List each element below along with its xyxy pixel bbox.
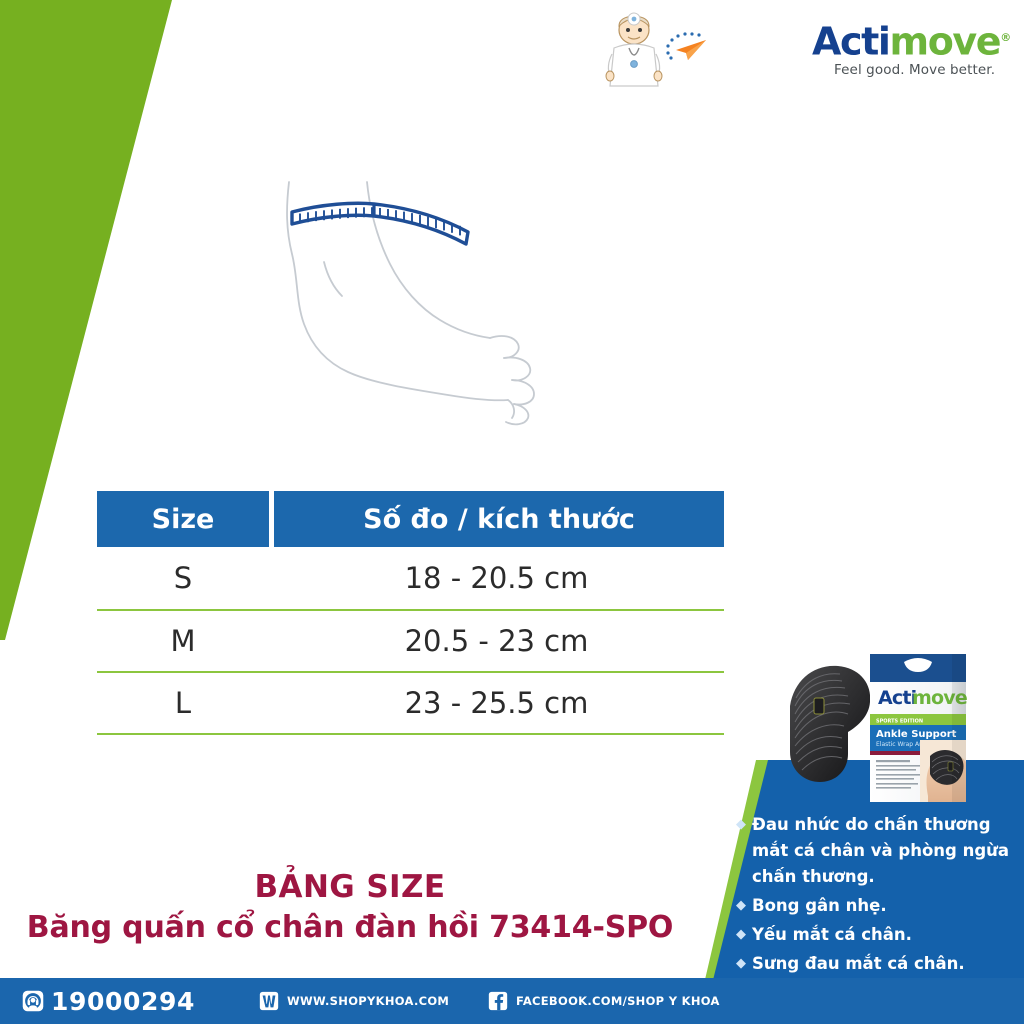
actimove-registered-mark: ® xyxy=(1000,31,1010,44)
benefit-text: Đau nhức do chấn thương mắt cá chân và p… xyxy=(752,812,1014,890)
benefit-text: Yếu mắt cá chân. xyxy=(752,922,1014,948)
table-row: S 18 - 20.5 cm xyxy=(97,547,724,611)
box-product-name: Ankle Support xyxy=(876,729,957,740)
bullet-diamond-icon: ◆ xyxy=(736,812,752,890)
bullet-diamond-icon: ◆ xyxy=(736,922,752,948)
page-subtitle: Băng quấn cổ chân đàn hồi 73414-SPO xyxy=(0,908,700,948)
benefit-text: Sưng đau mắt cá chân. xyxy=(752,951,1014,977)
actimove-wordmark: Actimove® xyxy=(812,16,1012,64)
shopykhoa-logo[interactable]: ĐẶT HÀNG ONLINE CÓ HÌNH LÀ LUÔN CÓ HÀNG … xyxy=(600,6,800,90)
box-brand-acti: Acti xyxy=(878,687,916,709)
actimove-acti: Acti xyxy=(812,20,890,64)
cell-size: M xyxy=(97,611,269,671)
footer-facebook[interactable]: FACEBOOK.COM/SHOP Y KHOA xyxy=(487,978,720,1024)
ankle-brace-product xyxy=(790,666,870,782)
cell-measure: 23 - 25.5 cm xyxy=(269,673,724,733)
bullet-diamond-icon: ◆ xyxy=(736,893,752,919)
table-row: M 20.5 - 23 cm xyxy=(97,611,724,673)
footer-phone[interactable]: 19000294 xyxy=(22,978,195,1024)
footer-bar: 19000294 WWW.SHOPYKHOA.COM FACEBOOK.COM/… xyxy=(0,978,1024,1024)
cell-size: S xyxy=(97,547,269,609)
footer-facebook-text: FACEBOOK.COM/SHOP Y KHOA xyxy=(516,994,720,1008)
facebook-icon xyxy=(487,990,509,1012)
doctor-mascot-icon xyxy=(602,10,666,90)
sizing-chart-infographic: ĐẶT HÀNG ONLINE CÓ HÌNH LÀ LUÔN CÓ HÀNG … xyxy=(0,0,1024,1024)
paper-plane-icon xyxy=(662,30,716,64)
cell-size: L xyxy=(97,673,269,733)
actimove-logo[interactable]: Actimove® Feel good. Move better. xyxy=(812,16,1012,86)
table-header-measure: Số đo / kích thước xyxy=(274,491,724,547)
list-item: ◆ Bong gân nhẹ. xyxy=(736,893,1014,919)
bullet-diamond-icon: ◆ xyxy=(736,951,752,977)
title-block: BẢNG SIZE Băng quấn cổ chân đàn hồi 7341… xyxy=(0,868,700,948)
list-item: ◆ Sưng đau mắt cá chân. xyxy=(736,951,1014,977)
globe-web-icon xyxy=(258,990,280,1012)
page-title: BẢNG SIZE xyxy=(0,868,700,906)
list-item: ◆ Yếu mắt cá chân. xyxy=(736,922,1014,948)
header: ĐẶT HÀNG ONLINE CÓ HÌNH LÀ LUÔN CÓ HÀNG … xyxy=(0,0,1024,96)
footer-website-text: WWW.SHOPYKHOA.COM xyxy=(287,994,449,1008)
size-table: Size Số đo / kích thước S 18 - 20.5 cm M… xyxy=(97,491,724,735)
measuring-tape-icon xyxy=(292,203,468,244)
headset-support-icon xyxy=(22,990,44,1012)
table-header-row: Size Số đo / kích thước xyxy=(97,491,724,547)
table-row: L 23 - 25.5 cm xyxy=(97,673,724,735)
footer-phone-number: 19000294 xyxy=(51,987,195,1016)
cell-measure: 18 - 20.5 cm xyxy=(269,547,724,609)
actimove-slogan: Feel good. Move better. xyxy=(812,62,1012,78)
benefits-list: ◆ Đau nhức do chấn thương mắt cá chân và… xyxy=(736,812,1014,980)
benefit-text: Bong gân nhẹ. xyxy=(752,893,1014,919)
ankle-measurement-illustration xyxy=(262,168,562,438)
table-header-size: Size xyxy=(97,491,269,547)
cell-measure: 20.5 - 23 cm xyxy=(269,611,724,671)
box-edition: SPORTS EDITION xyxy=(876,719,923,725)
product-photo: Acti move SPORTS EDITION Ankle Support E… xyxy=(752,636,982,811)
retail-box: Acti move SPORTS EDITION Ankle Support E… xyxy=(870,654,967,802)
list-item: ◆ Đau nhức do chấn thương mắt cá chân và… xyxy=(736,812,1014,890)
footer-website[interactable]: WWW.SHOPYKHOA.COM xyxy=(258,978,449,1024)
actimove-move: move xyxy=(890,20,1001,64)
